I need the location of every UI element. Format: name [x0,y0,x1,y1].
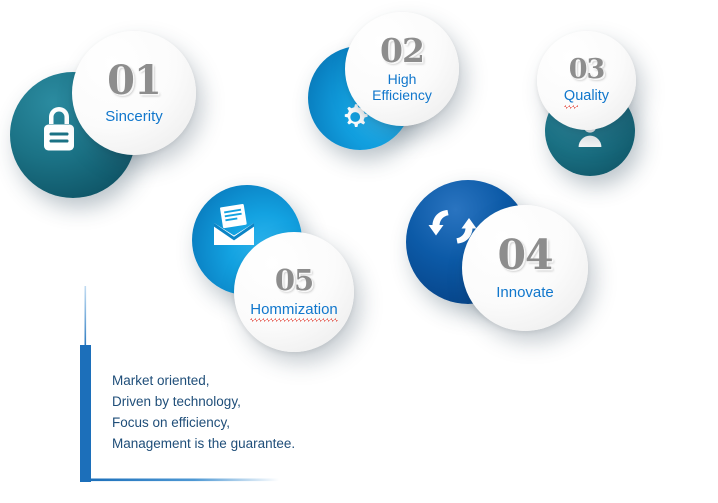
bracket-thick-bar [80,345,91,482]
infographic-canvas: 01 Sincerity 02 High Efficiency 03 Quali… [0,0,718,503]
bracket-thin-rule [85,286,87,346]
quote-text: Market oriented, Driven by technology, F… [112,370,442,454]
bracket-bottom-rule [91,479,279,482]
